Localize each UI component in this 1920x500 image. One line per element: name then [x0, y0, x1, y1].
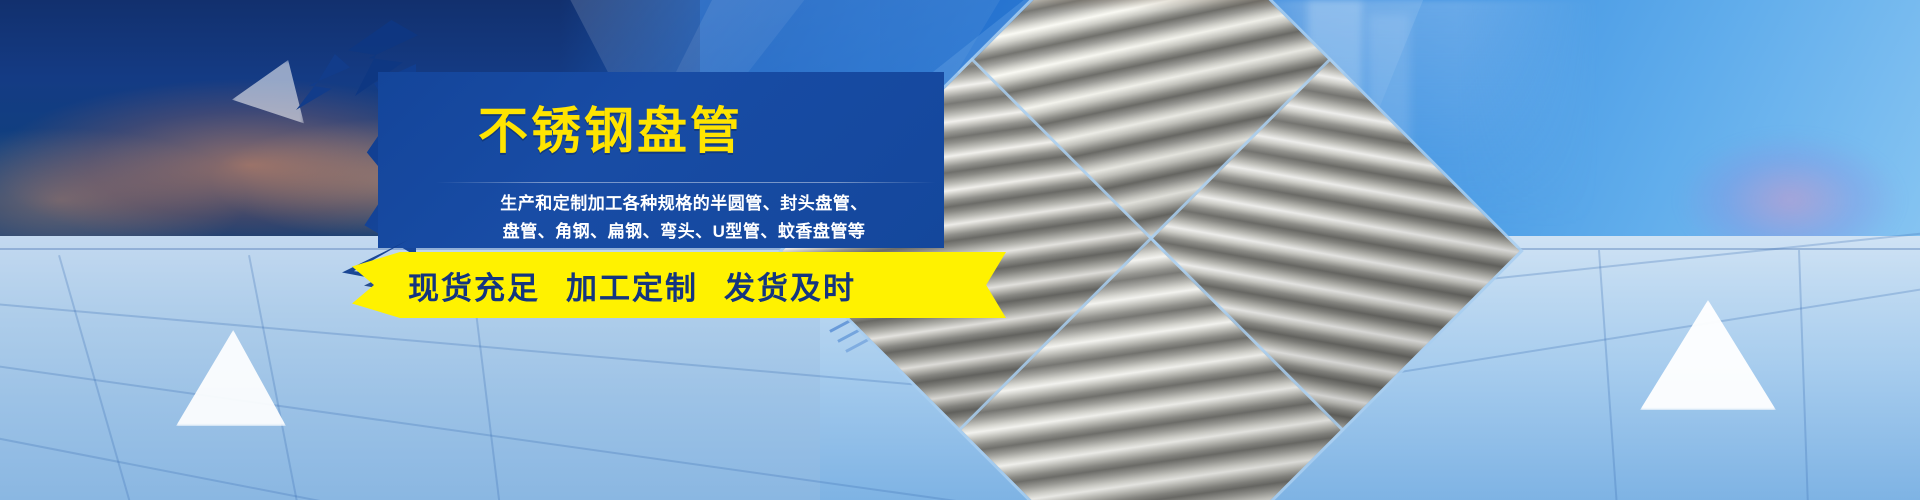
headline-panel: 不锈钢盘管 生产和定制加工各种规格的半圆管、封头盘管、 盘管、角钢、扁钢、弯头、…	[356, 56, 944, 252]
product-banner: 不锈钢盘管 生产和定制加工各种规格的半圆管、封头盘管、 盘管、角钢、扁钢、弯头、…	[0, 0, 1920, 500]
slogan-item-0: 现货充足	[408, 263, 540, 308]
panel-background: 不锈钢盘管 生产和定制加工各种规格的半圆管、封头盘管、 盘管、角钢、扁钢、弯头、…	[378, 72, 944, 248]
panel-subtitle: 生产和定制加工各种规格的半圆管、封头盘管、 盘管、角钢、扁钢、弯头、U型管、蚊香…	[424, 190, 944, 246]
slogan-item-1: 加工定制	[566, 263, 698, 308]
subtitle-line-2: 盘管、角钢、扁钢、弯头、U型管、蚊香盘管等	[424, 218, 944, 246]
slogan-ribbon: 现货充足 加工定制 发货及时	[352, 252, 982, 318]
slogan-item-2: 发货及时	[724, 263, 856, 308]
slogan-text: 现货充足 加工定制 发货及时	[408, 252, 948, 318]
subtitle-line-1: 生产和定制加工各种规格的半圆管、封头盘管、	[424, 190, 944, 218]
page-title: 不锈钢盘管	[478, 106, 743, 156]
title-divider	[436, 182, 936, 183]
